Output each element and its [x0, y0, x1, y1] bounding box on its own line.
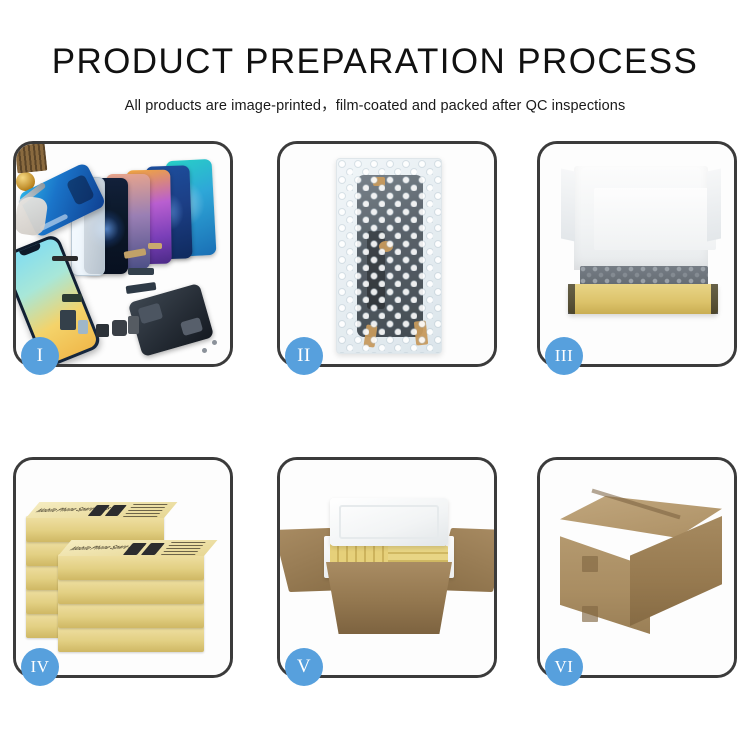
stacked-box-lid: Mobile Phone Spare Parts: [58, 540, 217, 556]
phone-back-housing-icon: [128, 283, 215, 357]
component-9-icon: [128, 316, 139, 334]
step-badge-3: III: [545, 337, 583, 375]
process-steps-grid: I II: [0, 0, 750, 750]
step-panel-3: III: [537, 141, 737, 367]
step-6-image: [540, 460, 734, 675]
screw-2-icon: [202, 348, 207, 353]
step-badge-4: IV: [21, 648, 59, 686]
carton-tape-patch-2: [582, 606, 598, 622]
step-panel-6: VI: [537, 457, 737, 678]
bubble-wrap-bag-icon: [336, 158, 442, 354]
chip-grid-icon: [16, 144, 47, 173]
flex-cable-3-icon: [126, 282, 157, 294]
stacked-box-item: Mobile Phone Spare Parts: [26, 516, 164, 542]
open-inner-box-icon: [560, 166, 720, 316]
stacked-box-item: [58, 578, 204, 604]
step-badge-1: I: [21, 337, 59, 375]
step-badge-6: VI: [545, 648, 583, 686]
carton-tape-patch-1: [582, 556, 598, 572]
component-8-icon: [112, 320, 127, 336]
component-5-icon: [60, 310, 76, 330]
box-spec-lines: [160, 542, 206, 556]
white-foam-lid-icon: [574, 166, 708, 270]
stacked-boxes-icon: Mobile Phone Spare Parts Mobile Phone Sp…: [22, 480, 222, 660]
component-bar-icon: [52, 256, 78, 261]
phone-parts-scene: [16, 144, 230, 364]
yellow-box-tray-icon: [568, 284, 718, 314]
stacked-box-item: [58, 602, 204, 628]
step-4-image: Mobile Phone Spare Parts Mobile Phone Sp…: [16, 460, 230, 675]
component-10-icon: [128, 268, 154, 275]
bubble-texture: [337, 159, 441, 353]
step-panel-4: Mobile Phone Spare Parts Mobile Phone Sp…: [13, 457, 233, 678]
flex-cable-2-icon: [148, 243, 162, 249]
screw-1-icon: [212, 340, 217, 345]
step-panel-5: V: [277, 457, 497, 678]
footer-spacer: [0, 692, 750, 750]
stacked-box-item: Mobile Phone Spare Parts: [58, 554, 204, 580]
open-carton-icon: [296, 504, 486, 644]
box-spec-lines: [122, 504, 168, 518]
foam-sheet-icon: [594, 188, 716, 250]
foam-box-lid-icon: [330, 498, 448, 546]
step-panel-2: II: [277, 141, 497, 367]
step-2-image: [280, 144, 494, 364]
flex-cable-4-icon: [62, 294, 82, 302]
component-6-icon: [78, 320, 88, 334]
stacked-box-item: [58, 626, 204, 652]
component-7-icon: [96, 324, 109, 337]
product-preparation-infographic: PRODUCT PREPARATION PROCESS All products…: [0, 0, 750, 750]
step-badge-2: II: [285, 337, 323, 375]
step-1-image: [16, 144, 230, 364]
stacked-box-lid: Mobile Phone Spare Parts: [26, 502, 177, 518]
sealed-carton-icon: [560, 496, 722, 646]
step-3-image: [540, 144, 734, 364]
step-5-image: [280, 460, 494, 675]
carton-body-icon: [326, 562, 452, 634]
step-panel-1: I: [13, 141, 233, 367]
step-badge-5: V: [285, 648, 323, 686]
